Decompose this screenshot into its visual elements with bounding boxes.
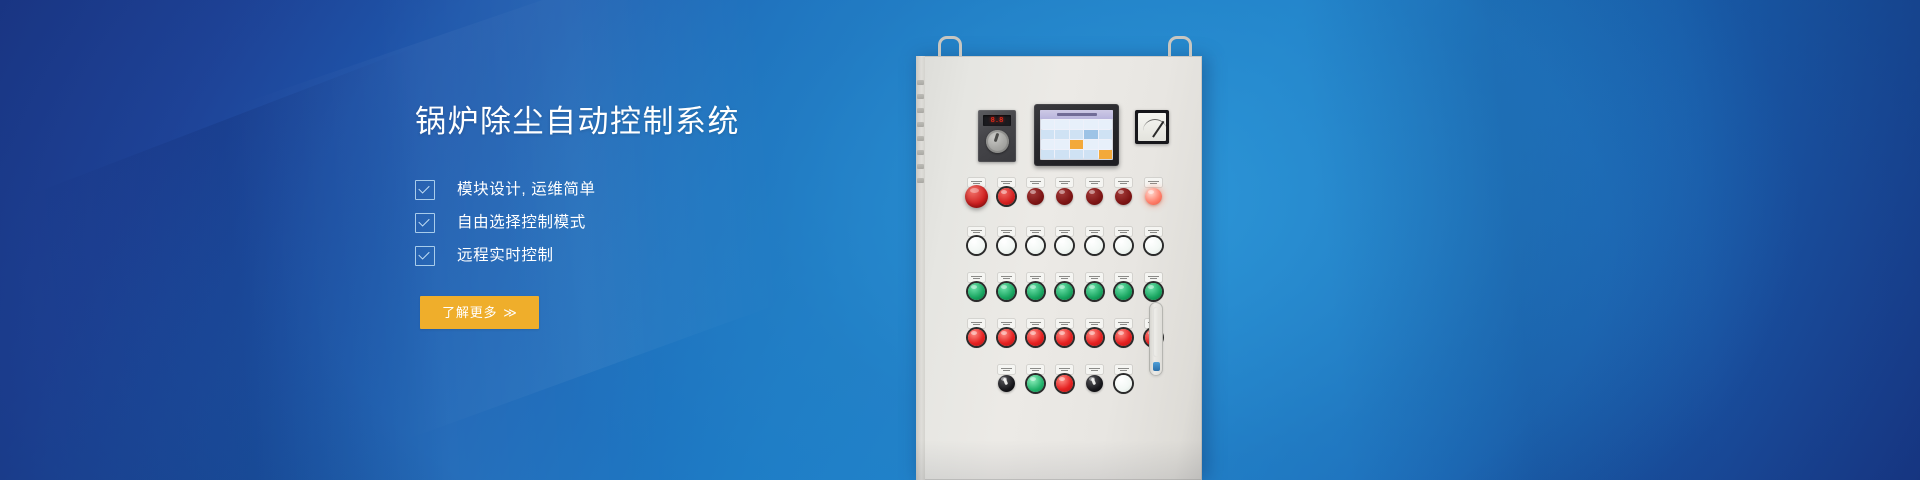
button-cell[interactable]	[991, 365, 1020, 392]
button-label-tag	[1056, 319, 1073, 328]
button-label-tag	[1056, 273, 1073, 282]
chevron-double-right-icon: ≫	[503, 305, 517, 321]
indicator-lamp-dark-red[interactable]	[1056, 188, 1073, 205]
button-label-tag	[998, 319, 1015, 328]
indicator-button-grid	[962, 178, 1168, 411]
button-cell[interactable]	[1080, 178, 1109, 208]
learn-more-label: 了解更多	[442, 306, 497, 319]
hmi-cell	[1041, 150, 1054, 159]
indicator-lamp-green[interactable]	[998, 283, 1015, 300]
button-row-5	[962, 365, 1168, 392]
indicator-lamp-green[interactable]	[1145, 283, 1162, 300]
button-label-tag	[1145, 178, 1162, 187]
button-cell[interactable]	[1050, 319, 1079, 346]
hmi-cell	[1041, 120, 1054, 129]
hmi-touch-panel[interactable]	[1034, 104, 1119, 166]
button-cell[interactable]	[1109, 227, 1138, 254]
button-cell[interactable]	[1050, 365, 1079, 392]
button-cell[interactable]	[1021, 319, 1050, 346]
hmi-cell	[1055, 140, 1068, 149]
button-cell[interactable]	[1021, 273, 1050, 300]
hmi-table-row	[1041, 130, 1112, 139]
button-cell[interactable]	[1050, 178, 1079, 208]
button-label-tag	[1086, 227, 1103, 236]
hmi-cell	[1084, 130, 1097, 139]
indicator-lamp-green[interactable]	[968, 283, 985, 300]
indicator-lamp-red[interactable]	[1086, 329, 1103, 346]
button-cell[interactable]	[1080, 227, 1109, 254]
hmi-cell	[1099, 130, 1112, 139]
button-label-tag	[1027, 178, 1044, 187]
button-label-tag	[1086, 178, 1103, 187]
indicator-lamp-green[interactable]	[1027, 283, 1044, 300]
indicator-lamp-red[interactable]	[1027, 329, 1044, 346]
button-label-tag	[998, 365, 1015, 374]
hero-banner: 锅炉除尘自动控制系统 模块设计, 运维简单 自由选择控制模式 远程实时控制 了解…	[0, 0, 1920, 480]
product-photo: 8.8	[916, 0, 1436, 480]
checkbox-check-icon	[415, 246, 435, 266]
button-cell[interactable]	[1109, 273, 1138, 300]
button-cell[interactable]	[1109, 319, 1138, 346]
button-label-tag	[998, 273, 1015, 282]
button-cell[interactable]	[962, 273, 991, 300]
indicator-lamp-green[interactable]	[1086, 283, 1103, 300]
button-label-tag	[1056, 227, 1073, 236]
hmi-cell	[1055, 150, 1068, 159]
emergency-stop-button[interactable]	[965, 185, 988, 208]
indicator-lamp-white[interactable]	[998, 237, 1015, 254]
hmi-screen	[1040, 110, 1113, 160]
button-label-tag	[1086, 273, 1103, 282]
indicator-lamp-red[interactable]	[1115, 329, 1132, 346]
checkbox-check-icon	[415, 180, 435, 200]
digital-temperature-controller: 8.8	[978, 110, 1016, 162]
hmi-cell	[1070, 150, 1083, 159]
hinge-segment	[917, 178, 924, 183]
hmi-screen-title	[1040, 110, 1113, 119]
hmi-cell	[1084, 120, 1097, 129]
button-row-2	[962, 227, 1168, 254]
button-cell[interactable]	[1080, 273, 1109, 300]
hmi-table-row	[1041, 140, 1112, 149]
indicator-lamp-white[interactable]	[1086, 237, 1103, 254]
button-label-tag	[1115, 365, 1132, 374]
hmi-cell	[1070, 130, 1083, 139]
feature-label-3: 远程实时控制	[457, 248, 554, 264]
controller-led-value: 8.8	[991, 117, 1004, 124]
button-cell[interactable]	[1138, 273, 1167, 300]
hmi-cell	[1055, 120, 1068, 129]
indicator-lamp-red[interactable]	[998, 188, 1015, 205]
hinge-segment	[917, 136, 924, 141]
feature-label-1: 模块设计, 运维简单	[457, 182, 596, 198]
button-label-tag	[1115, 319, 1132, 328]
hero-copy: 锅炉除尘自动控制系统 模块设计, 运维简单 自由选择控制模式 远程实时控制	[415, 106, 885, 272]
button-cell[interactable]	[962, 178, 991, 208]
button-cell[interactable]	[991, 273, 1020, 300]
button-label-tag	[1145, 227, 1162, 236]
indicator-lamp-white[interactable]	[968, 237, 985, 254]
button-label-tag	[1115, 273, 1132, 282]
hmi-table-row	[1041, 150, 1112, 159]
feature-list: 模块设计, 运维简单 自由选择控制模式 远程实时控制	[415, 173, 885, 272]
checkbox-check-icon	[415, 213, 435, 233]
button-cell[interactable]	[991, 227, 1020, 254]
analog-ammeter	[1135, 110, 1169, 144]
button-cell[interactable]	[1109, 365, 1138, 392]
controller-led-display: 8.8	[983, 115, 1011, 126]
button-cell[interactable]	[1080, 319, 1109, 346]
hmi-screen-table	[1040, 119, 1113, 160]
feature-item-3: 远程实时控制	[415, 239, 885, 272]
button-label-tag	[1027, 273, 1044, 282]
indicator-lamp-red[interactable]	[1056, 329, 1073, 346]
indicator-lamp-green[interactable]	[1027, 375, 1044, 392]
cabinet-bottom-shading	[916, 440, 1202, 480]
feature-label-2: 自由选择控制模式	[457, 215, 586, 231]
indicator-lamp-illuminated[interactable]	[1145, 188, 1162, 205]
button-cell[interactable]	[1138, 227, 1167, 254]
door-handle[interactable]	[1149, 302, 1163, 376]
indicator-lamp-white[interactable]	[1115, 375, 1132, 392]
button-label-tag	[1056, 365, 1073, 374]
button-label-tag	[968, 227, 985, 236]
hmi-cell-highlight	[1070, 140, 1083, 149]
indicator-lamp-dark-red[interactable]	[1115, 188, 1132, 205]
indicator-lamp-white[interactable]	[1115, 237, 1132, 254]
indicator-lamp-green[interactable]	[1115, 283, 1132, 300]
hmi-cell	[1070, 120, 1083, 129]
selector-switch-knob[interactable]	[998, 375, 1015, 392]
controller-knob[interactable]	[986, 130, 1009, 153]
button-row-1	[962, 178, 1168, 208]
button-label-tag	[1027, 227, 1044, 236]
hinge-segment	[917, 164, 924, 169]
button-label-tag	[1027, 319, 1044, 328]
feature-item-1: 模块设计, 运维简单	[415, 173, 885, 206]
button-label-tag	[1115, 227, 1132, 236]
button-row-4	[962, 319, 1168, 346]
hinge-segment	[917, 94, 924, 99]
indicator-lamp-dark-red[interactable]	[1027, 188, 1044, 205]
indicator-lamp-green[interactable]	[1056, 283, 1073, 300]
hmi-cell-highlight	[1099, 150, 1112, 159]
button-label-tag	[1145, 273, 1162, 282]
button-cell[interactable]	[1021, 227, 1050, 254]
button-cell[interactable]	[1109, 178, 1138, 208]
control-cabinet: 8.8	[916, 56, 1202, 480]
hmi-table-row	[1041, 120, 1112, 129]
indicator-lamp-white[interactable]	[1145, 237, 1162, 254]
button-cell[interactable]	[1021, 365, 1050, 392]
button-cell-spacer	[962, 365, 991, 392]
button-cell[interactable]	[991, 319, 1020, 346]
hmi-cell	[1041, 140, 1054, 149]
button-cell[interactable]	[991, 178, 1020, 208]
hmi-cell	[1084, 140, 1097, 149]
ammeter-face	[1138, 113, 1166, 141]
indicator-lamp-white[interactable]	[1027, 237, 1044, 254]
button-cell[interactable]	[962, 319, 991, 346]
button-cell[interactable]	[962, 227, 991, 254]
hmi-cell	[1099, 140, 1112, 149]
learn-more-button[interactable]: 了解更多 ≫	[420, 296, 539, 329]
button-label-tag	[1115, 178, 1132, 187]
hinge-segment	[917, 150, 924, 155]
indicator-lamp-red[interactable]	[968, 329, 985, 346]
hmi-cell	[1099, 120, 1112, 129]
page-title: 锅炉除尘自动控制系统	[415, 106, 885, 137]
indicator-lamp-dark-red[interactable]	[1086, 188, 1103, 205]
handle-recess	[1153, 307, 1159, 357]
indicator-lamp-red[interactable]	[1056, 375, 1073, 392]
button-label-tag	[1056, 178, 1073, 187]
button-cell[interactable]	[1021, 178, 1050, 208]
button-label-tag	[1086, 365, 1103, 374]
button-cell[interactable]	[1080, 365, 1109, 392]
hmi-cell	[1041, 130, 1054, 139]
hinge-segment	[917, 122, 924, 127]
button-label-tag	[968, 319, 985, 328]
indicator-lamp-white[interactable]	[1056, 237, 1073, 254]
hmi-cell	[1055, 130, 1068, 139]
button-label-tag	[1027, 365, 1044, 374]
button-label-tag	[998, 178, 1015, 187]
button-label-tag	[968, 273, 985, 282]
button-row-3	[962, 273, 1168, 300]
hinge-segment	[917, 80, 924, 85]
hmi-cell	[1084, 150, 1097, 159]
button-label-tag	[998, 227, 1015, 236]
selector-switch-knob[interactable]	[1086, 375, 1103, 392]
indicator-lamp-red[interactable]	[998, 329, 1015, 346]
door-lock-icon[interactable]	[1153, 362, 1160, 371]
button-cell[interactable]	[1050, 273, 1079, 300]
feature-item-2: 自由选择控制模式	[415, 206, 885, 239]
cabinet-hinge-strip	[916, 56, 925, 480]
button-cell[interactable]	[1050, 227, 1079, 254]
hinge-segment	[917, 108, 924, 113]
button-cell[interactable]	[1138, 178, 1167, 208]
button-label-tag	[1086, 319, 1103, 328]
